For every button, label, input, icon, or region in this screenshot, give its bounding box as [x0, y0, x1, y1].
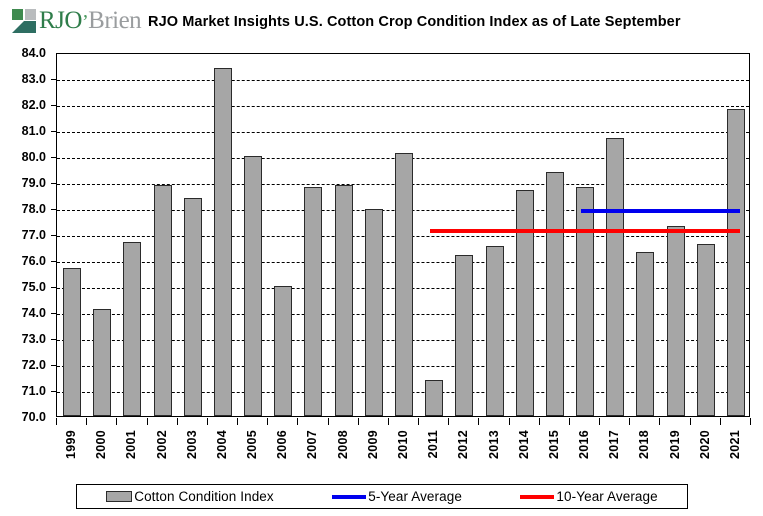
- bar-rect: [546, 172, 564, 416]
- bar-2001[interactable]: [117, 54, 147, 416]
- legend-line-swatch-icon: [332, 495, 366, 499]
- x-axis-tick-mark: [237, 418, 238, 425]
- x-axis-tick-mark: [177, 418, 178, 425]
- bar-rect: [365, 209, 383, 416]
- legend-label: Cotton Condition Index: [134, 489, 274, 504]
- x-axis: 1999200020012002200320042005200620072008…: [56, 418, 750, 480]
- x-axis-tick-mark: [539, 418, 540, 425]
- x-axis-tick-label-2018: 2018: [637, 430, 651, 459]
- bar-rect: [516, 190, 534, 416]
- y-axis-tick-label: 71.0: [22, 384, 46, 398]
- bar-rect: [425, 380, 443, 416]
- x-axis-tick-label-2003: 2003: [185, 430, 199, 459]
- x-axis-tick-label-2012: 2012: [456, 430, 470, 459]
- bar-2000[interactable]: [87, 54, 117, 416]
- x-axis-tick-mark: [267, 418, 268, 425]
- bar-2016[interactable]: [570, 54, 600, 416]
- legend-item-10-year-average[interactable]: 10-Year Average: [520, 489, 657, 504]
- bar-2015[interactable]: [540, 54, 570, 416]
- x-axis-tick-label-2016: 2016: [577, 430, 591, 459]
- x-axis-tick-mark: [388, 418, 389, 425]
- bar-rect: [606, 138, 624, 416]
- x-axis-tick-mark: [358, 418, 359, 425]
- x-axis-tick-mark: [750, 418, 751, 425]
- bar-2018[interactable]: [630, 54, 660, 416]
- x-axis-tick-label-2014: 2014: [517, 430, 531, 459]
- x-axis-tick-mark: [659, 418, 660, 425]
- x-axis-tick-mark: [328, 418, 329, 425]
- bar-series: [57, 54, 749, 416]
- y-axis-tick-label: 75.0: [22, 280, 46, 294]
- bar-rect: [395, 153, 413, 416]
- x-axis-tick-mark: [207, 418, 208, 425]
- x-axis-tick-label-2002: 2002: [155, 430, 169, 459]
- x-axis-tick-label-2017: 2017: [607, 430, 621, 459]
- bar-2012[interactable]: [449, 54, 479, 416]
- x-axis-tick-mark: [629, 418, 630, 425]
- bar-rect: [244, 156, 262, 416]
- y-axis-tick-label: 72.0: [22, 358, 46, 372]
- x-axis-tick-mark: [690, 418, 691, 425]
- x-axis-tick-label-2011: 2011: [426, 430, 440, 458]
- x-axis-tick-label-2020: 2020: [698, 430, 712, 459]
- 10-year-average-line: [430, 229, 740, 233]
- x-axis-tick-label-2015: 2015: [547, 430, 561, 459]
- rjobrien-logo-icon: [12, 9, 36, 33]
- x-axis-tick-label-2009: 2009: [366, 430, 380, 459]
- bar-rect: [636, 252, 654, 416]
- bar-2004[interactable]: [208, 54, 238, 416]
- x-axis-tick-label-2019: 2019: [668, 430, 682, 459]
- bar-1999[interactable]: [57, 54, 87, 416]
- y-axis-tick-label: 73.0: [22, 332, 46, 346]
- y-axis-tick-label: 76.0: [22, 254, 46, 268]
- logo-text-brien: Brien: [88, 7, 141, 34]
- bar-rect: [214, 68, 232, 416]
- x-axis-tick-mark: [448, 418, 449, 425]
- bar-rect: [184, 198, 202, 416]
- bar-2021[interactable]: [721, 54, 751, 416]
- bar-2010[interactable]: [389, 54, 419, 416]
- x-axis-tick-label-2007: 2007: [305, 430, 319, 459]
- bar-2005[interactable]: [238, 54, 268, 416]
- y-axis-tick-label: 83.0: [22, 72, 46, 86]
- x-axis-tick-label-2021: 2021: [728, 430, 742, 459]
- bar-rect: [697, 244, 715, 416]
- x-axis-tick-mark: [56, 418, 57, 425]
- bar-rect: [304, 187, 322, 416]
- bar-2006[interactable]: [268, 54, 298, 416]
- logo-wordmark: RJO’Brien: [39, 7, 141, 35]
- legend-label: 5-Year Average: [368, 489, 462, 504]
- x-axis-tick-mark: [116, 418, 117, 425]
- y-axis: 84.083.082.081.080.079.078.077.076.075.0…: [0, 53, 56, 417]
- bar-2019[interactable]: [660, 54, 690, 416]
- x-axis-tick-mark: [86, 418, 87, 425]
- y-axis-tick-label: 81.0: [22, 124, 46, 138]
- x-axis-tick-mark: [297, 418, 298, 425]
- x-axis-tick-label-2005: 2005: [245, 430, 259, 459]
- x-axis-tick-mark: [478, 418, 479, 425]
- bar-2020[interactable]: [691, 54, 721, 416]
- bar-2003[interactable]: [178, 54, 208, 416]
- bar-2009[interactable]: [359, 54, 389, 416]
- bar-2013[interactable]: [479, 54, 509, 416]
- bar-rect: [93, 309, 111, 416]
- y-axis-tick-label: 79.0: [22, 176, 46, 190]
- bar-rect: [727, 109, 745, 416]
- y-axis-tick-label: 84.0: [22, 46, 46, 60]
- bar-rect: [63, 268, 81, 416]
- x-axis-tick-label-2004: 2004: [215, 430, 229, 459]
- legend-bar-swatch-icon: [106, 491, 132, 502]
- bar-rect: [274, 286, 292, 416]
- bar-2014[interactable]: [510, 54, 540, 416]
- legend-label: 10-Year Average: [556, 489, 657, 504]
- bar-2002[interactable]: [148, 54, 178, 416]
- bar-2017[interactable]: [600, 54, 630, 416]
- bar-2008[interactable]: [329, 54, 359, 416]
- x-axis-tick-label-2006: 2006: [275, 430, 289, 459]
- rjobrien-logo: RJO’Brien: [12, 7, 141, 35]
- page-header: RJO’Brien RJO Market Insights U.S. Cotto…: [0, 0, 763, 42]
- bar-rect: [335, 185, 353, 416]
- x-axis-tick-mark: [509, 418, 510, 425]
- x-axis-tick-label-2010: 2010: [396, 430, 410, 459]
- legend-item-5-year-average[interactable]: 5-Year Average: [332, 489, 462, 504]
- bar-rect: [576, 187, 594, 416]
- x-axis-tick-label-2000: 2000: [94, 430, 108, 459]
- bar-2007[interactable]: [298, 54, 328, 416]
- bar-rect: [667, 226, 685, 416]
- chart-title: RJO Market Insights U.S. Cotton Crop Con…: [148, 14, 681, 30]
- logo-text-rjo: RJO: [39, 7, 82, 34]
- y-axis-tick-label: 74.0: [22, 306, 46, 320]
- y-axis-tick-label: 82.0: [22, 98, 46, 112]
- legend-line-swatch-icon: [520, 495, 554, 499]
- bar-2011[interactable]: [419, 54, 449, 416]
- x-axis-tick-label-2013: 2013: [487, 430, 501, 459]
- x-axis-tick-mark: [720, 418, 721, 425]
- bar-rect: [455, 255, 473, 416]
- 5-year-average-line: [581, 209, 740, 213]
- x-axis-tick-label-1999: 1999: [64, 430, 78, 459]
- bar-rect: [123, 242, 141, 416]
- x-axis-tick-label-2008: 2008: [336, 430, 350, 459]
- x-axis-tick-mark: [599, 418, 600, 425]
- y-axis-tick-label: 77.0: [22, 228, 46, 242]
- y-axis-tick-label: 78.0: [22, 202, 46, 216]
- bar-rect: [486, 246, 504, 416]
- chart-plot-area: [56, 53, 750, 417]
- x-axis-tick-mark: [569, 418, 570, 425]
- y-axis-tick-label: 70.0: [22, 410, 46, 424]
- x-axis-tick-mark: [147, 418, 148, 425]
- bar-rect: [154, 185, 172, 416]
- x-axis-tick-mark: [418, 418, 419, 425]
- legend-item-cotton-condition-index[interactable]: Cotton Condition Index: [106, 489, 274, 504]
- y-axis-tick-label: 80.0: [22, 150, 46, 164]
- x-axis-tick-label-2001: 2001: [124, 430, 138, 459]
- chart-legend: Cotton Condition Index5-Year Average10-Y…: [76, 484, 688, 509]
